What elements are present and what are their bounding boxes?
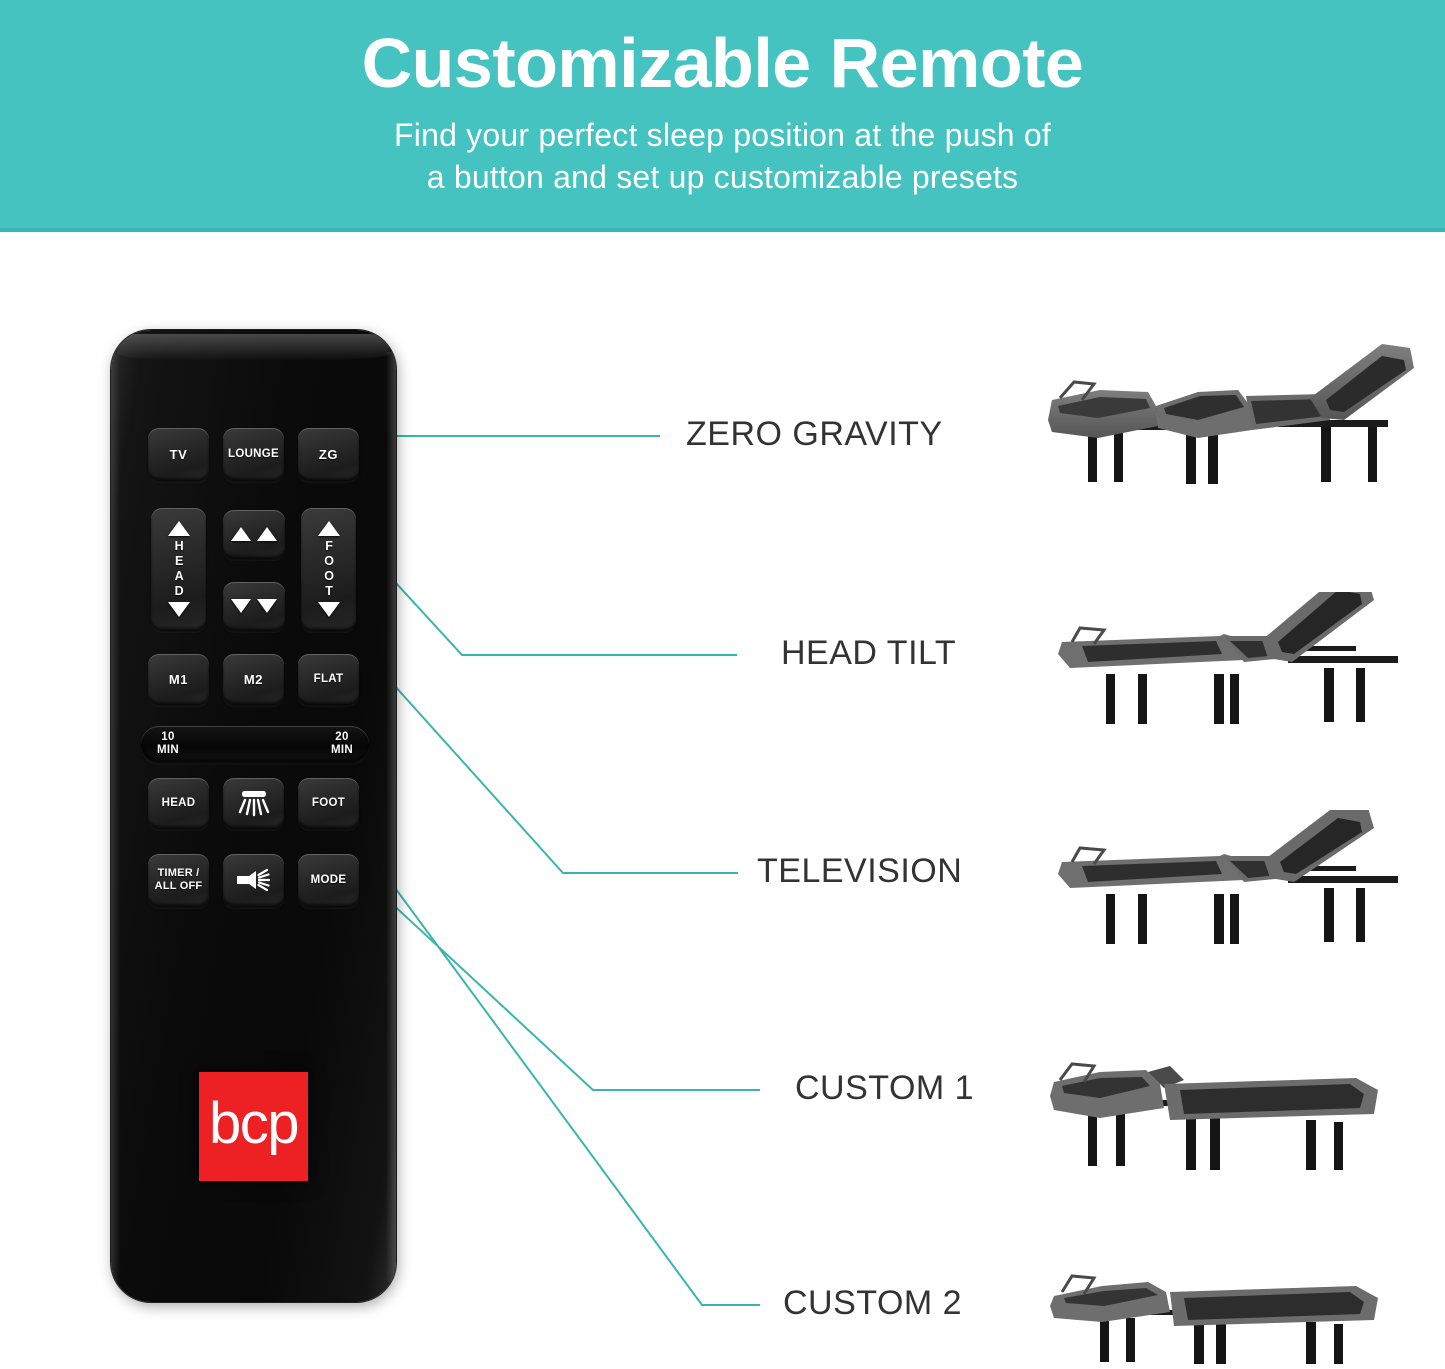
button-foot-rocker[interactable]: FOOT [301, 508, 356, 630]
banner-bottom-rule [0, 228, 1445, 232]
remote-right-edge [386, 352, 396, 1282]
button-both-up[interactable] [223, 510, 285, 558]
callout-head-tilt: HEAD TILT [781, 634, 956, 673]
underbed-light-icon [236, 788, 272, 818]
button-m2[interactable]: M2 [223, 654, 284, 704]
button-mode[interactable]: MODE [298, 854, 359, 906]
page-subtitle-line-1: Find your perfect sleep position at the … [0, 114, 1445, 156]
bed-custom-1 [1038, 1028, 1438, 1178]
flashlight-icon [234, 867, 274, 893]
triangle-down-icon [168, 602, 190, 617]
button-mode-label: MODE [311, 874, 347, 886]
button-timer-all-off-label: TIMER / ALL OFF [155, 867, 203, 893]
page-subtitle: Find your perfect sleep position at the … [0, 98, 1445, 198]
bed-custom-2 [1038, 1244, 1438, 1369]
timer-10-min-number: 10 [157, 731, 179, 744]
triangle-up-icon [257, 527, 277, 541]
timer-bar[interactable]: 10 MIN 20 MIN [141, 726, 369, 762]
timer-20-min-unit: MIN [331, 744, 353, 757]
button-head-massage[interactable]: HEAD [148, 778, 209, 828]
button-head-rocker[interactable]: HEAD [151, 508, 206, 630]
button-m1-label: M1 [169, 672, 188, 687]
double-triangle-down-icon [231, 599, 277, 613]
page-title: Customizable Remote [0, 0, 1445, 98]
callout-television: TELEVISION [757, 852, 962, 891]
timer-20-min-number: 20 [331, 731, 353, 744]
remote-control: TV LOUNGE ZG HEAD FOOT M1 M2 F [111, 330, 396, 1302]
callout-zero-gravity: ZERO GRAVITY [686, 415, 943, 454]
bcp-logo: bcp [199, 1072, 308, 1181]
button-head-rocker-label: HEAD [172, 539, 185, 599]
triangle-down-icon [257, 599, 277, 613]
button-foot-massage-label: FOOT [312, 797, 345, 809]
button-underbed-light[interactable] [223, 778, 284, 828]
header-banner: Customizable Remote Find your perfect sl… [0, 0, 1445, 232]
page-subtitle-line-2: a button and set up customizable presets [0, 156, 1445, 198]
button-zg-label: ZG [319, 447, 338, 462]
button-lounge[interactable]: LOUNGE [223, 428, 284, 480]
button-foot-massage[interactable]: FOOT [298, 778, 359, 828]
remote-top-gloss [117, 334, 390, 360]
button-timer-all-off-line-2: ALL OFF [155, 880, 203, 892]
button-m1[interactable]: M1 [148, 654, 209, 704]
triangle-down-icon [318, 602, 340, 617]
button-tv[interactable]: TV [148, 428, 209, 480]
triangle-up-icon [231, 527, 251, 541]
button-timer-all-off[interactable]: TIMER / ALL OFF [148, 854, 209, 906]
bed-television [1038, 810, 1438, 952]
triangle-up-icon [318, 521, 340, 536]
button-head-massage-label: HEAD [162, 797, 196, 809]
button-zg[interactable]: ZG [298, 428, 359, 480]
button-foot-rocker-label: FOOT [322, 539, 335, 599]
button-flat[interactable]: FLAT [298, 654, 359, 704]
bed-head-tilt [1038, 592, 1438, 730]
button-both-down[interactable] [223, 582, 285, 630]
callout-custom-1: CUSTOM 1 [795, 1069, 974, 1108]
button-m2-label: M2 [244, 672, 263, 687]
button-timer-all-off-line-1: TIMER / [158, 867, 200, 879]
bcp-logo-text: bcp [209, 1095, 298, 1153]
timer-20-min[interactable]: 20 MIN [331, 731, 353, 756]
button-flat-label: FLAT [314, 673, 344, 685]
button-lounge-label: LOUNGE [228, 448, 279, 460]
timer-10-min[interactable]: 10 MIN [157, 731, 179, 756]
bed-zero-gravity [1038, 334, 1438, 489]
triangle-up-icon [168, 521, 190, 536]
triangle-down-icon [231, 599, 251, 613]
callout-custom-2: CUSTOM 2 [783, 1284, 962, 1323]
button-flashlight[interactable] [223, 854, 284, 906]
timer-10-min-unit: MIN [157, 744, 179, 757]
remote-left-edge [111, 352, 120, 1282]
double-triangle-up-icon [231, 527, 277, 541]
button-tv-label: TV [170, 447, 188, 462]
